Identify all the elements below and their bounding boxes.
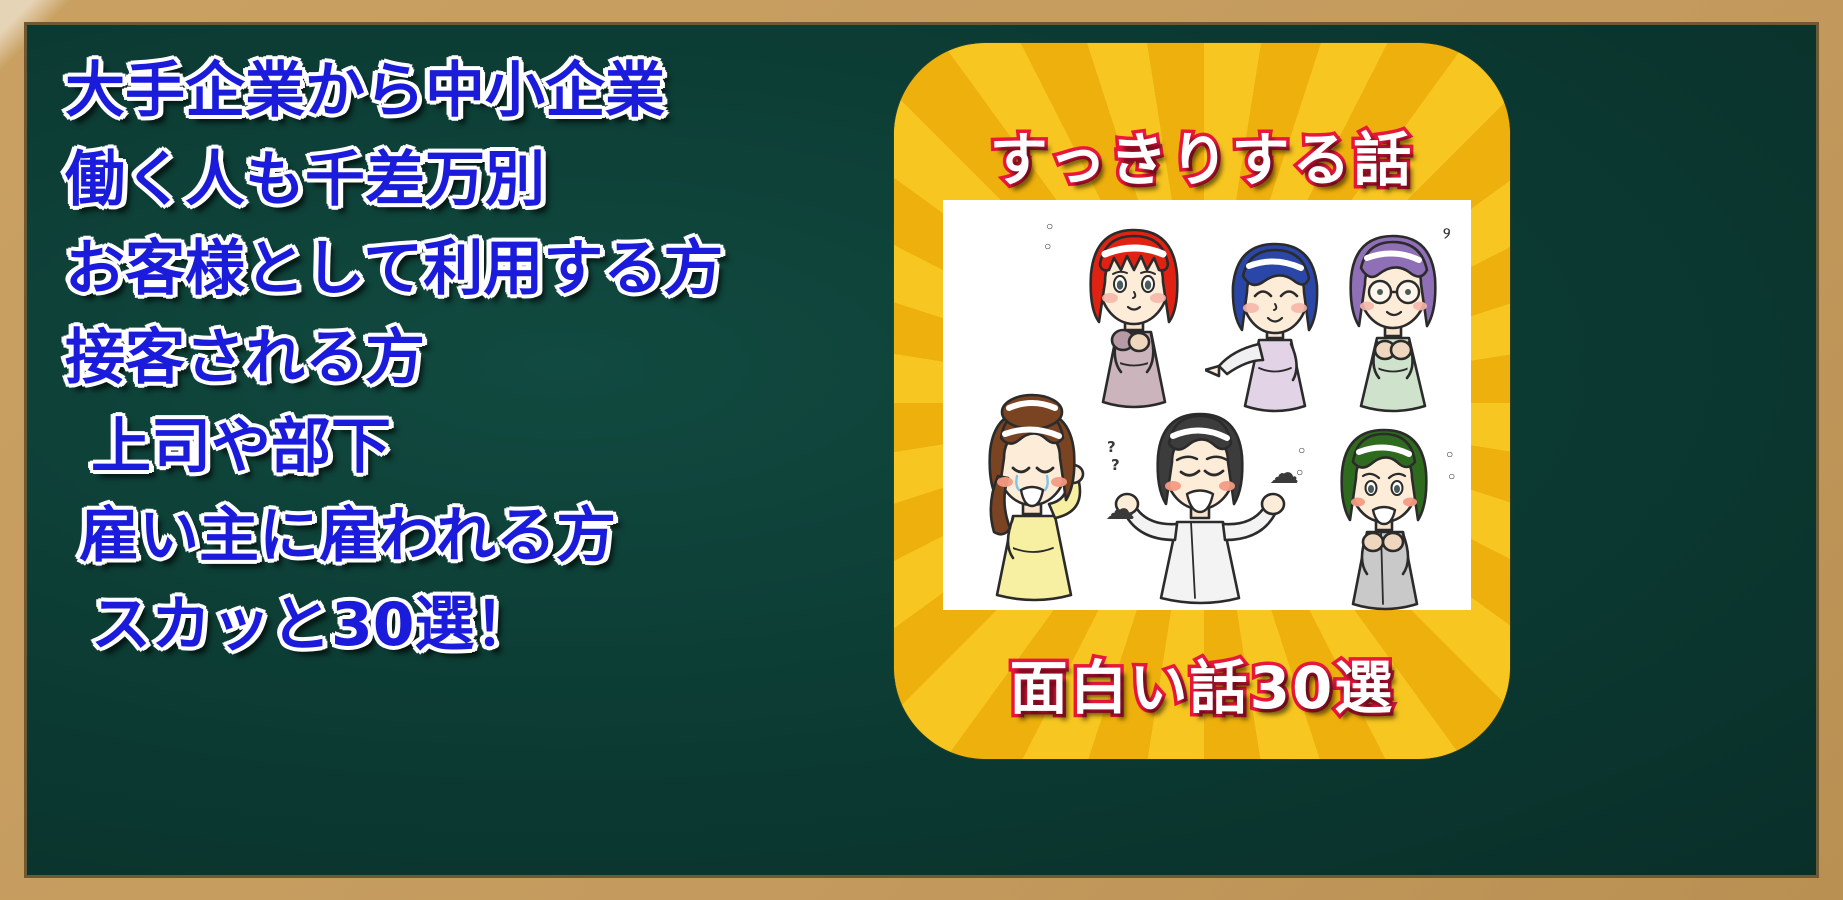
gold-panel-subtitle: 面白い話30選	[894, 641, 1510, 725]
headline-line-3: お客様として利用する方	[65, 225, 885, 314]
headline-line-2: 働く人も千差万別	[65, 136, 885, 225]
gold-sunburst-panel: すっきりする話	[894, 43, 1510, 759]
headline-line-4: 接客される方	[65, 314, 885, 403]
headline-line-1: 大手企業から中小企業	[65, 47, 885, 136]
gold-panel-title: すっきりする話	[894, 113, 1510, 197]
figure-woman-black-hair: ☁ ☁	[1111, 396, 1291, 606]
headline-line-6: 雇い主に雇われる方	[65, 492, 885, 581]
figure-woman-red-hair: ◦ ◦	[1059, 212, 1209, 412]
illustration-card: ◦ ◦	[943, 200, 1471, 610]
figure-woman-purple-hair: ୨	[1325, 218, 1465, 418]
sweat-drop-icon: ◦	[1045, 218, 1055, 236]
headline-block: 大手企業から中小企業 働く人も千差万別 お客様として利用する方 接客される方 上…	[65, 47, 885, 670]
sweat-drop-icon: ◦	[1445, 446, 1455, 464]
headline-line-7: スカッと30選！	[65, 581, 885, 670]
sweat-drop-icon: ◦	[1297, 442, 1307, 460]
speech-puff-icon: ☁	[1105, 492, 1135, 527]
figure-woman-blue-hair	[1205, 228, 1345, 418]
sweat-drop-icon: ◦	[1447, 468, 1457, 486]
sweat-drop-icon: ◦	[1043, 238, 1053, 256]
swirl-icon: ୨	[1443, 224, 1450, 242]
chalkboard-background: 大手企業から中小企業 働く人も千差万別 お客様として利用する方 接客される方 上…	[27, 25, 1816, 875]
sweat-drop-icon: ◦	[1295, 464, 1305, 482]
headline-line-5: 上司や部下	[65, 403, 885, 492]
poster-canvas: 大手企業から中小企業 働く人も千差万別 お客様として利用する方 接客される方 上…	[0, 0, 1843, 900]
figure-woman-brown-hair: ? ?	[957, 390, 1117, 605]
figure-woman-green-hair: ◦ ◦ ◦ ◦	[1313, 412, 1463, 612]
